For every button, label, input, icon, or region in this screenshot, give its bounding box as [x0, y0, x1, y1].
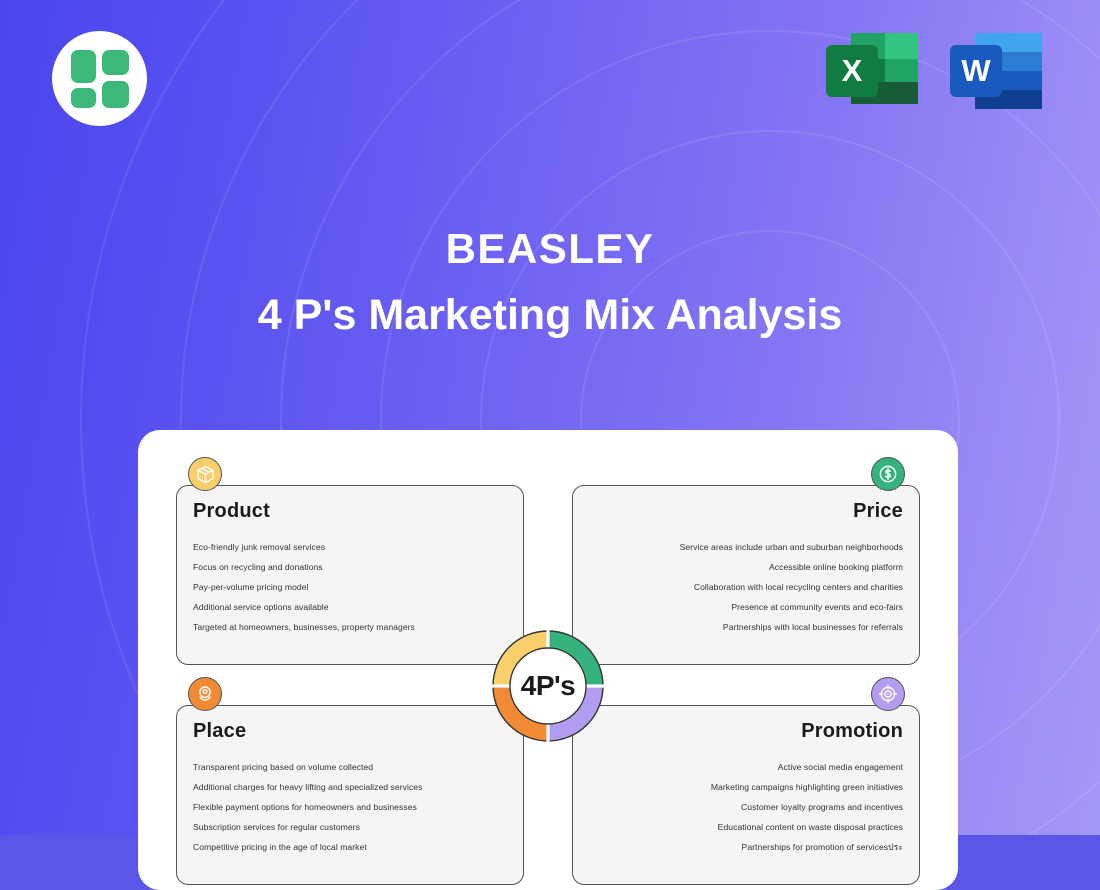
quadrant-price[interactable]: Price Service areas include urban and su… — [572, 485, 920, 665]
logo-square — [71, 50, 96, 83]
list-item: Collaboration with local recycling cente… — [589, 583, 903, 592]
list-item: Additional service options available — [193, 603, 507, 612]
list-item: Subscription services for regular custom… — [193, 823, 507, 832]
svg-text:X: X — [842, 53, 863, 88]
quadrant-place[interactable]: Place Transparent pricing based on volum… — [176, 705, 524, 885]
office-app-icons: X W — [822, 29, 1050, 121]
target-crosshair-icon — [871, 677, 905, 711]
list-item: Service areas include urban and suburban… — [589, 543, 903, 552]
grid-logo-icon — [52, 31, 147, 126]
list-item: Competitive pricing in the age of local … — [193, 843, 507, 852]
list-item: Partnerships for promotion of servicesปร… — [589, 843, 903, 852]
brand-name: BEASLEY — [0, 228, 1100, 270]
page-title: 4 P's Marketing Mix Analysis — [0, 293, 1100, 338]
list-item: Marketing campaigns highlighting green i… — [589, 783, 903, 792]
logo-square — [71, 88, 96, 108]
list-item: Partnerships with local businesses for r… — [589, 623, 903, 632]
donut-center-label: 4P's — [487, 625, 609, 747]
list-item: Transparent pricing based on volume coll… — [193, 763, 507, 772]
quadrant-list: Eco-friendly junk removal services Focus… — [193, 543, 507, 632]
list-item: Focus on recycling and donations — [193, 563, 507, 572]
list-item: Pay-per-volume pricing model — [193, 583, 507, 592]
list-item: Eco-friendly junk removal services — [193, 543, 507, 552]
quadrant-list: Active social media engagement Marketing… — [589, 763, 903, 852]
quadrant-list: Service areas include urban and suburban… — [589, 543, 903, 632]
list-item: Customer loyalty programs and incentives — [589, 803, 903, 812]
quadrant-title: Price — [589, 500, 903, 523]
list-item: Accessible online booking platform — [589, 563, 903, 572]
quadrant-list: Transparent pricing based on volume coll… — [193, 763, 507, 852]
list-item: Targeted at homeowners, businesses, prop… — [193, 623, 507, 632]
list-item: Additional charges for heavy lifting and… — [193, 783, 507, 792]
list-item: Flexible payment options for homeowners … — [193, 803, 507, 812]
dollar-coin-icon — [871, 457, 905, 491]
word-icon[interactable]: W — [946, 29, 1050, 121]
quadrant-title: Promotion — [589, 720, 903, 743]
list-item: Educational content on waste disposal pr… — [589, 823, 903, 832]
title-block: BEASLEY 4 P's Marketing Mix Analysis — [0, 228, 1100, 338]
package-box-icon — [188, 457, 222, 491]
quadrant-title: Product — [193, 500, 507, 523]
quadrant-promotion[interactable]: Promotion Active social media engagement… — [572, 705, 920, 885]
list-item: Presence at community events and eco-fai… — [589, 603, 903, 612]
logo-square — [102, 81, 129, 108]
excel-icon[interactable]: X — [822, 29, 926, 121]
logo-square — [102, 50, 129, 75]
location-pin-icon — [188, 677, 222, 711]
list-item: Active social media engagement — [589, 763, 903, 772]
svg-text:W: W — [961, 53, 991, 88]
quadrant-title: Place — [193, 720, 507, 743]
quadrant-product[interactable]: Product Eco-friendly junk removal servic… — [176, 485, 524, 665]
